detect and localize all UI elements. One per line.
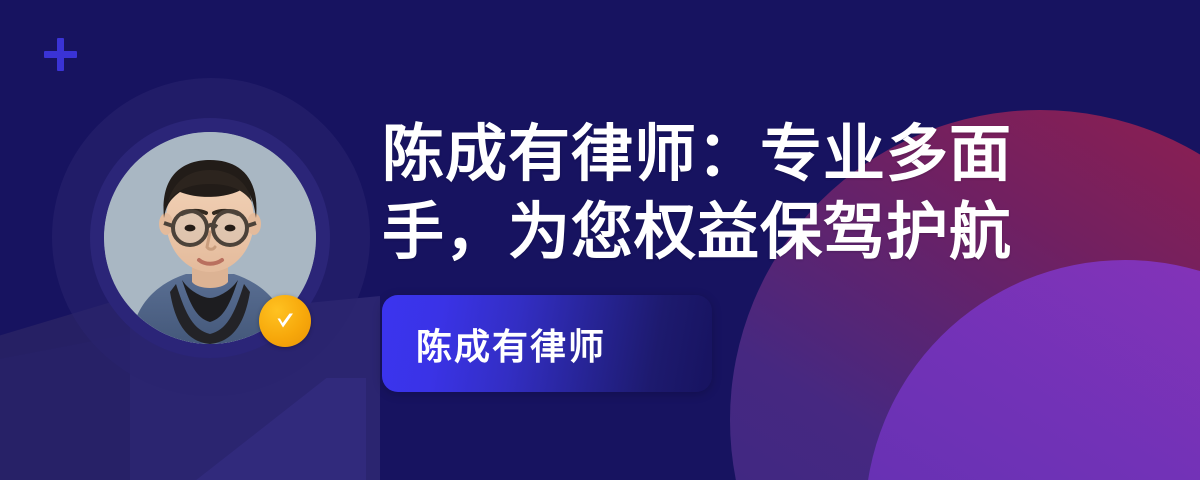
plus-icon bbox=[44, 38, 77, 71]
avatar bbox=[90, 118, 330, 358]
headline-block: 陈成有律师：专业多面 手，为您权益保驾护航 bbox=[382, 116, 1042, 272]
lawyer-name-button[interactable]: 陈成有律师 bbox=[382, 295, 712, 392]
verified-check-icon bbox=[259, 295, 311, 347]
page-title: 陈成有律师：专业多面 手，为您权益保驾护航 bbox=[382, 116, 1042, 272]
lawyer-profile-banner: 陈成有律师：专业多面 手，为您权益保驾护航 陈成有律师 bbox=[0, 0, 1200, 480]
